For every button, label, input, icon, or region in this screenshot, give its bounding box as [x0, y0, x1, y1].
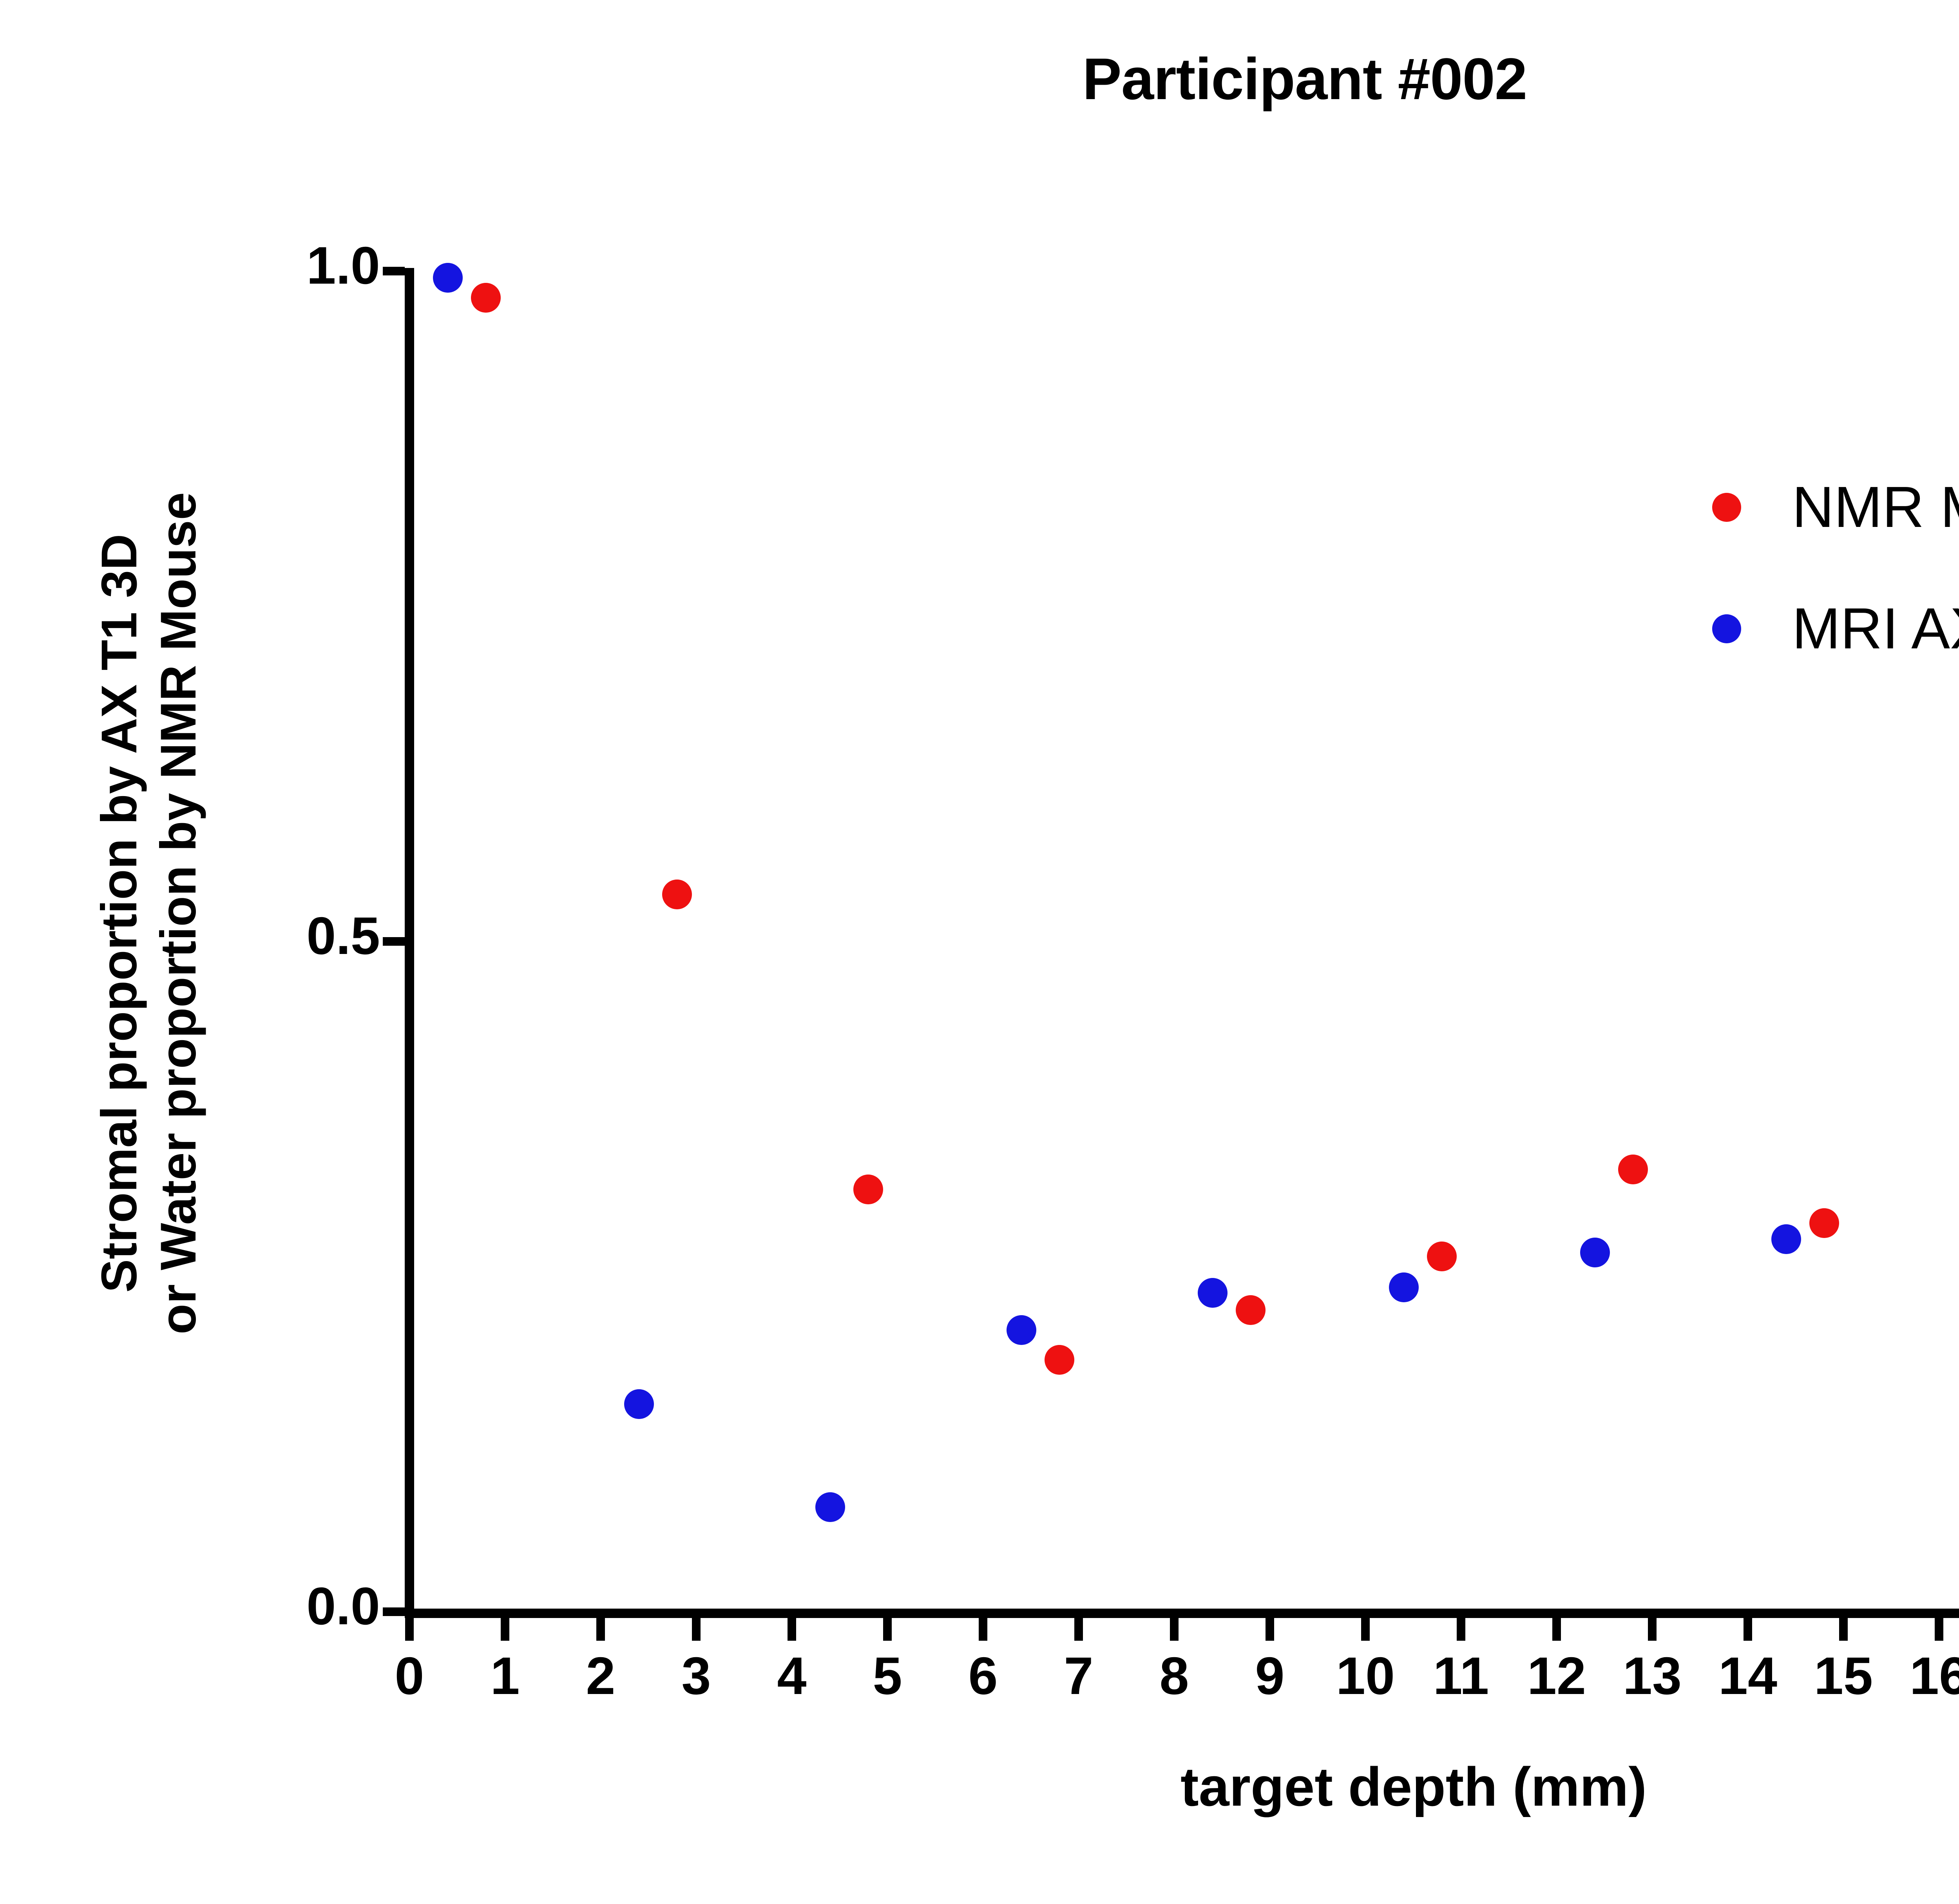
x-tick-label-4: 4	[745, 1645, 839, 1706]
x-axis-title: target depth (mm)	[405, 1755, 1959, 1819]
data-point-s1-1	[624, 1389, 654, 1419]
x-tick-label-8: 8	[1127, 1645, 1221, 1706]
y-axis-title-line-1: Stromal proportion by AX T1 3D	[90, 208, 149, 1618]
y-axis-title: Stromal proportion by AX T1 3D or Water …	[90, 208, 208, 1618]
y-tick-label-1.0: 1.0	[212, 235, 380, 296]
x-tick-label-3: 3	[649, 1645, 743, 1706]
x-tick-3	[692, 1618, 701, 1641]
x-tick-2	[596, 1618, 605, 1641]
x-tick-12	[1552, 1618, 1561, 1641]
x-tick-label-14: 14	[1701, 1645, 1795, 1706]
x-axis-line	[405, 1609, 1959, 1618]
x-tick-0	[405, 1618, 414, 1641]
x-tick-label-2: 2	[554, 1645, 648, 1706]
x-tick-label-10: 10	[1318, 1645, 1412, 1706]
x-tick-5	[883, 1618, 892, 1641]
legend-item-1[interactable]: MRI AX T1 3D	[1712, 568, 1959, 690]
x-tick-label-11: 11	[1414, 1645, 1508, 1706]
data-point-s1-5	[1389, 1272, 1419, 1302]
x-tick-9	[1266, 1618, 1274, 1641]
data-point-s1-6	[1580, 1238, 1610, 1267]
data-point-s0-4	[1236, 1295, 1266, 1325]
data-point-s0-5	[1427, 1242, 1457, 1271]
legend-label-0: NMR Mouse	[1792, 474, 1959, 541]
data-point-s0-1	[662, 880, 692, 909]
data-point-s0-7	[1809, 1208, 1839, 1238]
y-tick-0.5	[383, 937, 405, 946]
data-point-s1-3	[1007, 1315, 1036, 1345]
data-point-s0-2	[853, 1175, 883, 1204]
data-point-s0-3	[1045, 1345, 1074, 1375]
x-tick-label-12: 12	[1510, 1645, 1604, 1706]
x-tick-14	[1744, 1618, 1752, 1641]
x-tick-6	[979, 1618, 987, 1641]
chart-legend: NMR MouseMRI AX T1 3D	[1712, 447, 1959, 690]
legend-item-0[interactable]: NMR Mouse	[1712, 447, 1959, 568]
x-tick-4	[788, 1618, 796, 1641]
x-tick-label-1: 1	[458, 1645, 552, 1706]
y-tick-1.0	[383, 267, 405, 275]
x-tick-label-6: 6	[936, 1645, 1030, 1706]
y-tick-label-0.5: 0.5	[212, 905, 380, 966]
x-tick-label-15: 15	[1796, 1645, 1890, 1706]
data-point-s0-6	[1618, 1155, 1648, 1184]
x-tick-1	[501, 1618, 509, 1641]
x-tick-8	[1170, 1618, 1179, 1641]
x-tick-label-5: 5	[840, 1645, 934, 1706]
legend-marker-icon-0	[1712, 493, 1741, 522]
data-point-s1-4	[1198, 1278, 1228, 1308]
x-tick-label-7: 7	[1032, 1645, 1126, 1706]
y-tick-label-0.0: 0.0	[212, 1576, 380, 1636]
x-tick-label-16: 16	[1892, 1645, 1959, 1706]
x-tick-10	[1361, 1618, 1370, 1641]
x-tick-13	[1648, 1618, 1657, 1641]
data-point-s1-0	[433, 263, 463, 293]
chart-canvas: Participant #002 0.00.51.0 0123456789101…	[0, 0, 1959, 1904]
data-point-s1-2	[815, 1492, 845, 1522]
x-tick-15	[1839, 1618, 1848, 1641]
x-tick-11	[1457, 1618, 1465, 1641]
x-tick-16	[1935, 1618, 1943, 1641]
y-axis-title-line-2: or Water proportion by NMR Mouse	[149, 208, 208, 1618]
x-tick-label-9: 9	[1223, 1645, 1317, 1706]
data-point-s0-0	[471, 283, 501, 313]
x-tick-label-0: 0	[362, 1645, 456, 1706]
y-axis-line	[405, 268, 414, 1618]
data-point-s1-7	[1771, 1224, 1801, 1254]
x-tick-7	[1074, 1618, 1083, 1641]
legend-label-1: MRI AX T1 3D	[1792, 595, 1959, 662]
y-tick-0.0	[383, 1607, 405, 1616]
legend-marker-icon-1	[1712, 614, 1741, 643]
x-tick-label-13: 13	[1605, 1645, 1699, 1706]
plot-area: 0.00.51.0 012345678910111213141516171819…	[0, 0, 1959, 1904]
